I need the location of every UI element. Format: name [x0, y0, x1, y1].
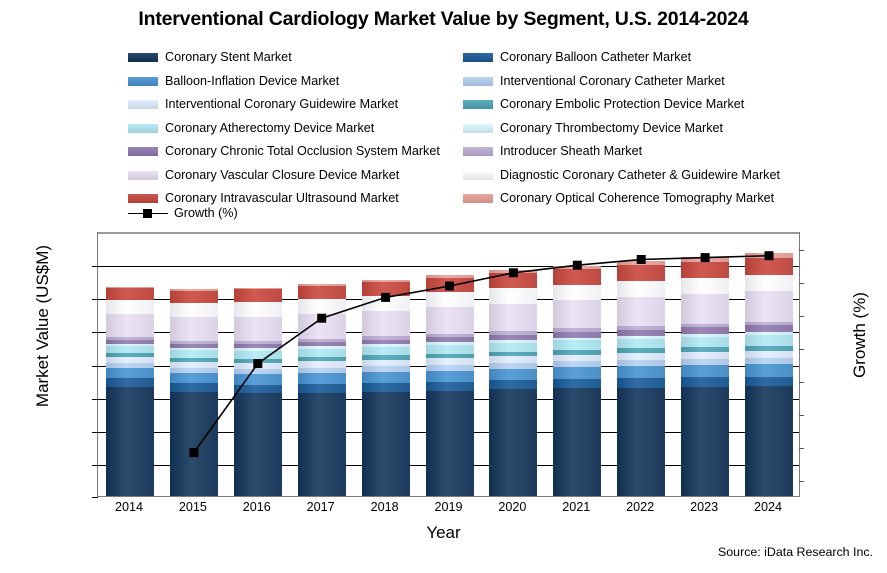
- legend-swatch: [463, 53, 493, 62]
- legend-swatch: [128, 77, 158, 86]
- x-tick-2017: 2017: [286, 500, 356, 514]
- legend-label: Coronary Chronic Total Occlusion System …: [165, 145, 440, 158]
- legend-label: Diagnostic Coronary Catheter & Guidewire…: [500, 169, 780, 182]
- legend-item: Coronary Embolic Protection Device Marke…: [463, 93, 798, 117]
- legend-swatch: [128, 171, 158, 180]
- legend-label-growth: Growth (%): [174, 207, 238, 220]
- legend-item-growth: Growth (%): [128, 203, 238, 223]
- legend-label: Interventional Coronary Catheter Market: [500, 75, 725, 88]
- x-axis-tick-labels: 2014201520162017201820192020202120222023…: [97, 500, 800, 520]
- legend-item: Coronary Chronic Total Occlusion System …: [128, 140, 463, 164]
- x-tick-2016: 2016: [222, 500, 292, 514]
- legend-swatch: [128, 124, 158, 133]
- growth-marker-2023[interactable]: [701, 253, 710, 262]
- growth-line-svg: [98, 233, 801, 498]
- legend-swatch: [128, 100, 158, 109]
- legend-swatch: [463, 171, 493, 180]
- x-axis-title: Year: [0, 523, 887, 543]
- y2-axis-title: Growth (%): [850, 245, 870, 425]
- legend-item: Introducer Sheath Market: [463, 140, 798, 164]
- x-tick-2021: 2021: [541, 500, 611, 514]
- legend-item: Diagnostic Coronary Catheter & Guidewire…: [463, 164, 798, 188]
- legend-label: Coronary Atherectomy Device Market: [165, 122, 374, 135]
- x-tick-2024: 2024: [733, 500, 803, 514]
- growth-marker-2024[interactable]: [765, 251, 774, 260]
- legend-swatch: [463, 147, 493, 156]
- legend-swatch: [128, 53, 158, 62]
- growth-marker-2021[interactable]: [573, 261, 582, 270]
- growth-line-path: [194, 256, 769, 453]
- legend-item: Coronary Stent Market: [128, 46, 463, 70]
- legend-item: Coronary Optical Coherence Tomography Ma…: [463, 187, 798, 211]
- legend-swatch: [128, 147, 158, 156]
- chart-legend: Coronary Stent MarketCoronary Balloon Ca…: [128, 46, 828, 211]
- y-axis-title: Market Value (US$M): [33, 221, 53, 431]
- legend-item: Interventional Coronary Guidewire Market: [128, 93, 463, 117]
- growth-marker-2020[interactable]: [509, 268, 518, 277]
- legend-item: Interventional Coronary Catheter Market: [463, 70, 798, 94]
- growth-marker-2015[interactable]: [189, 448, 198, 457]
- legend-label: Coronary Balloon Catheter Market: [500, 51, 691, 64]
- legend-label: Coronary Thrombectomy Device Market: [500, 122, 723, 135]
- legend-item: Coronary Atherectomy Device Market: [128, 117, 463, 141]
- legend-label: Interventional Coronary Guidewire Market: [165, 98, 398, 111]
- legend-swatch: [463, 77, 493, 86]
- x-tick-2014: 2014: [94, 500, 164, 514]
- legend-item: Balloon-Inflation Device Market: [128, 70, 463, 94]
- chart-root: Interventional Cardiology Market Value b…: [0, 0, 887, 573]
- legend-label: Coronary Stent Market: [165, 51, 292, 64]
- growth-marker-2022[interactable]: [637, 255, 646, 264]
- legend-label: Introducer Sheath Market: [500, 145, 642, 158]
- legend-swatch: [128, 194, 158, 203]
- growth-marker-2018[interactable]: [381, 293, 390, 302]
- legend-item: Coronary Thrombectomy Device Market: [463, 117, 798, 141]
- source-note: Source: iData Research Inc.: [718, 545, 873, 559]
- legend-swatch: [463, 100, 493, 109]
- legend-label: Balloon-Inflation Device Market: [165, 75, 339, 88]
- growth-marker-2016[interactable]: [253, 359, 262, 368]
- x-tick-2018: 2018: [350, 500, 420, 514]
- legend-label: Coronary Vascular Closure Device Market: [165, 169, 399, 182]
- legend-item: Coronary Vascular Closure Device Market: [128, 164, 463, 188]
- legend-label: Coronary Optical Coherence Tomography Ma…: [500, 192, 774, 205]
- plot-area: [97, 232, 800, 497]
- legend-grid: Coronary Stent MarketCoronary Balloon Ca…: [128, 46, 828, 211]
- legend-swatch: [463, 124, 493, 133]
- growth-marker-2017[interactable]: [317, 314, 326, 323]
- page-title: Interventional Cardiology Market Value b…: [0, 8, 887, 31]
- x-tick-2020: 2020: [477, 500, 547, 514]
- legend-swatch: [463, 194, 493, 203]
- x-tick-2015: 2015: [158, 500, 228, 514]
- x-tick-2023: 2023: [669, 500, 739, 514]
- x-tick-2022: 2022: [605, 500, 675, 514]
- legend-label: Coronary Embolic Protection Device Marke…: [500, 98, 744, 111]
- growth-marker-2019[interactable]: [445, 282, 454, 291]
- growth-line-layer: [98, 233, 799, 496]
- growth-line-icon: [128, 208, 168, 219]
- x-tick-2019: 2019: [414, 500, 484, 514]
- legend-item: Coronary Balloon Catheter Market: [463, 46, 798, 70]
